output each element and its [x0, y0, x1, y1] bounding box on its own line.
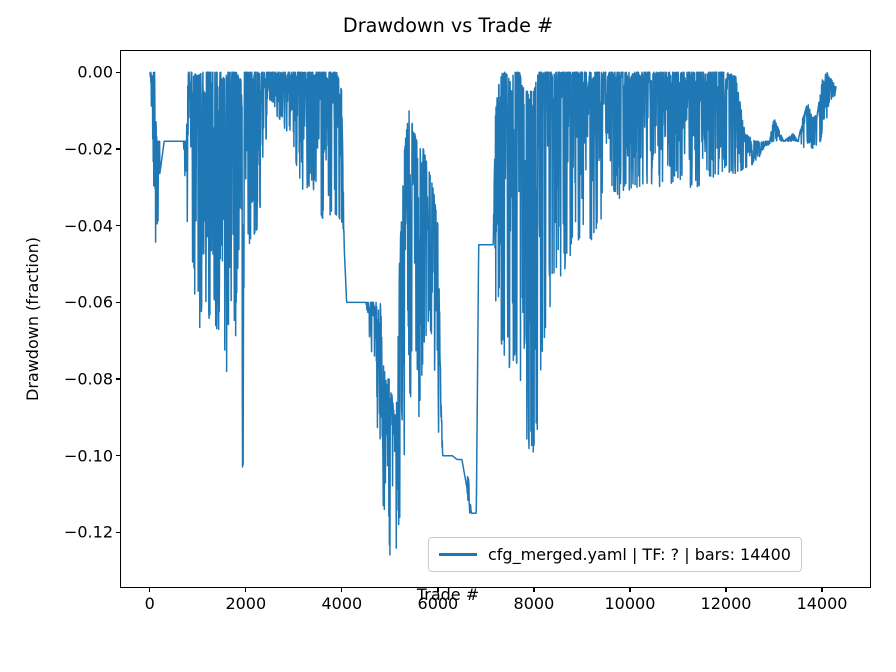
y-tick-label: −0.10 — [64, 446, 113, 465]
plot-axes: 0.00−0.02−0.04−0.06−0.08−0.10−0.12 02000… — [120, 50, 871, 588]
figure-canvas: Drawdown vs Trade # 0.00−0.02−0.04−0.06−… — [0, 0, 896, 672]
y-tick-mark — [116, 532, 120, 533]
y-tick-mark — [116, 378, 120, 379]
legend-entry-label: cfg_merged.yaml | TF: ? | bars: 14400 — [488, 545, 791, 564]
axis-spine-right — [870, 50, 871, 588]
y-tick-label: −0.08 — [64, 370, 113, 389]
y-axis-label: Drawdown (fraction) — [18, 50, 48, 588]
y-tick-label: −0.02 — [64, 139, 113, 158]
chart-legend[interactable]: cfg_merged.yaml | TF: ? | bars: 14400 — [428, 537, 802, 572]
y-tick-label: −0.06 — [64, 293, 113, 312]
y-tick-mark — [116, 455, 120, 456]
legend-line-swatch — [439, 553, 477, 556]
axis-spine-left — [120, 50, 121, 588]
chart-title: Drawdown vs Trade # — [0, 14, 896, 37]
x-axis-label: Trade # — [0, 585, 896, 604]
y-tick-label: −0.12 — [64, 523, 113, 542]
y-tick-label: −0.04 — [64, 216, 113, 235]
drawdown-line-series — [120, 50, 871, 588]
drawdown-curve — [150, 72, 836, 555]
y-tick-mark — [116, 148, 120, 149]
y-tick-mark — [116, 225, 120, 226]
y-tick-mark — [116, 302, 120, 303]
y-tick-label: 0.00 — [77, 63, 113, 82]
y-tick-mark — [116, 72, 120, 73]
axis-spine-top — [120, 50, 871, 51]
